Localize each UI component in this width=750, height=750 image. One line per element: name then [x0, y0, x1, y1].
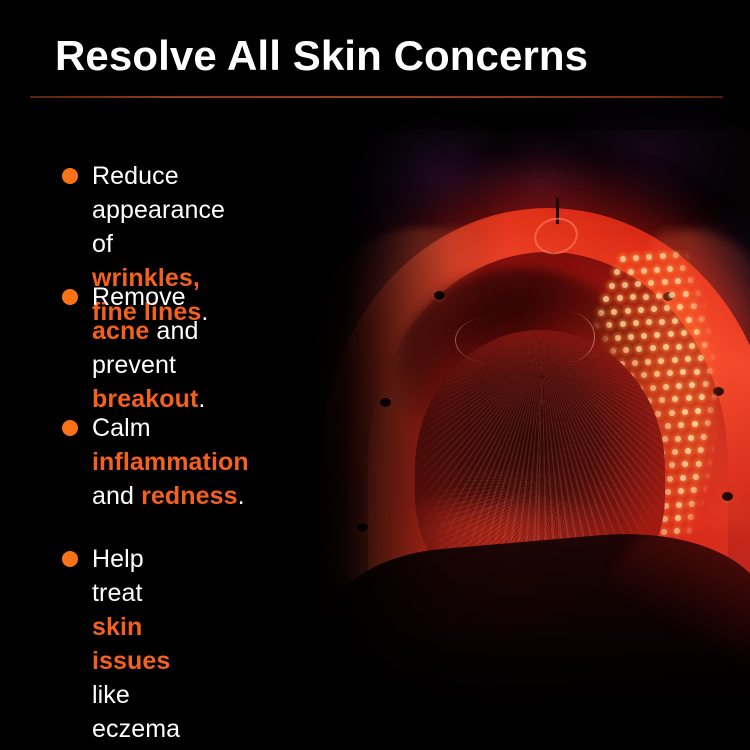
highlight-term: inflammation	[92, 448, 249, 476]
highlight-term: skin	[92, 613, 142, 641]
title-divider	[30, 96, 723, 98]
benefit-text: Remove acne and prevent breakout.	[92, 280, 205, 416]
benefit-text: Calm inflammation and redness.	[92, 411, 249, 513]
bullet-dot-icon	[62, 168, 78, 184]
highlight-term: issues	[92, 647, 170, 675]
page-title: Resolve All Skin Concerns	[55, 32, 588, 80]
highlight-term: acne	[92, 317, 149, 345]
benefit-text: Help treat skin issues like eczema and p…	[92, 542, 199, 750]
bullet-dot-icon	[62, 289, 78, 305]
promo-graphic: Resolve All Skin Concerns Reduce appeara…	[0, 0, 750, 750]
bullet-dot-icon	[62, 551, 78, 567]
content-layer: Resolve All Skin Concerns Reduce appeara…	[0, 0, 750, 750]
highlight-term: redness	[141, 482, 238, 510]
bullet-dot-icon	[62, 420, 78, 436]
highlight-term: breakout	[92, 385, 198, 413]
